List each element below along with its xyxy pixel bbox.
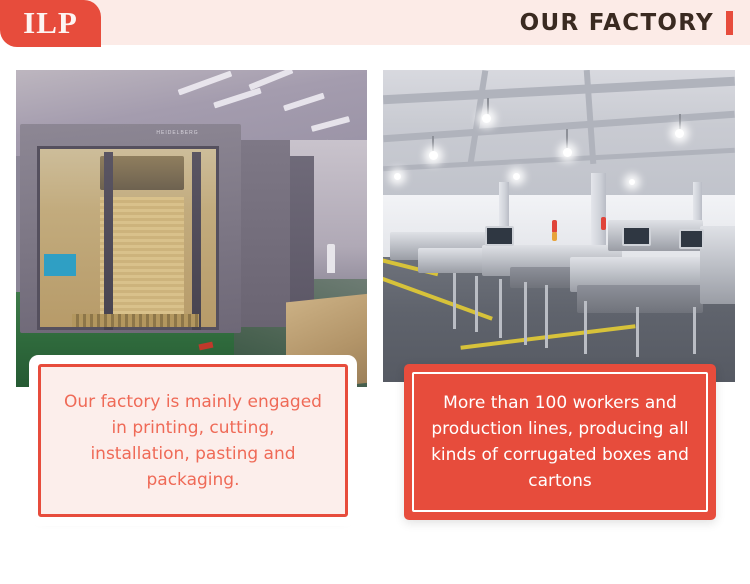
photo-paper-stack — [100, 197, 184, 317]
photo-pallet — [72, 314, 198, 327]
printing-press-factory-photo: HEIDELBERG — [16, 70, 367, 387]
photo-machine-leg — [499, 279, 502, 338]
photo-machine-leg — [636, 307, 639, 357]
panel-right — [383, 70, 735, 382]
photo-machine — [577, 285, 704, 313]
photo-machine-screen — [679, 229, 704, 249]
page-title: OUR FACTORY — [520, 9, 714, 37]
photo-ceiling-lamp — [482, 114, 491, 123]
photo-machine-leg — [584, 301, 587, 354]
photo-machine-screen — [485, 226, 514, 246]
photo-lamp-stem — [432, 136, 434, 152]
photo-machine-brand-label: HEIDELBERG — [156, 130, 198, 136]
logo-block[interactable]: ILP — [0, 0, 101, 47]
photo-lamp-stem — [566, 129, 568, 148]
photo-ceiling-lamp — [394, 173, 401, 180]
photo-worker — [327, 244, 336, 273]
photo-machine-leg — [524, 282, 527, 344]
caption-card-right-inner-border: More than 100 workers and production lin… — [412, 372, 708, 512]
photo-press-head — [100, 156, 184, 191]
photo-press-column — [192, 152, 201, 330]
title-accent-bar-icon — [726, 11, 733, 35]
panel-left: HEIDELBERG — [16, 70, 367, 387]
photo-machine-leg — [545, 285, 548, 347]
page-header: ILP OUR FACTORY — [0, 0, 750, 46]
photo-press-column — [104, 152, 113, 330]
caption-card-left-text: Our factory is mainly engaged in printin… — [41, 389, 345, 493]
photo-blue-crate — [44, 254, 76, 276]
photo-signal-light — [552, 220, 557, 233]
caption-card-left: Our factory is mainly engaged in printin… — [38, 364, 348, 517]
photo-machine-leg — [475, 276, 478, 332]
photo-machine-leg — [693, 307, 696, 354]
photo-ceiling-lamp — [563, 148, 572, 157]
photo-signal-light — [601, 217, 606, 230]
photo-lamp-stem — [487, 98, 489, 114]
logo-text: ILP — [23, 7, 78, 40]
photo-lamp-stem — [679, 114, 681, 130]
caption-card-right: More than 100 workers and production lin… — [404, 364, 716, 520]
photo-ceiling-lamp — [429, 151, 438, 160]
production-line-hall-photo — [383, 70, 735, 382]
caption-card-right-text: More than 100 workers and production lin… — [414, 390, 706, 494]
photo-signal-light — [552, 232, 557, 241]
photo-machine-leg — [453, 273, 456, 329]
photo-machine-screen — [622, 226, 651, 246]
photo-machine — [700, 226, 735, 304]
